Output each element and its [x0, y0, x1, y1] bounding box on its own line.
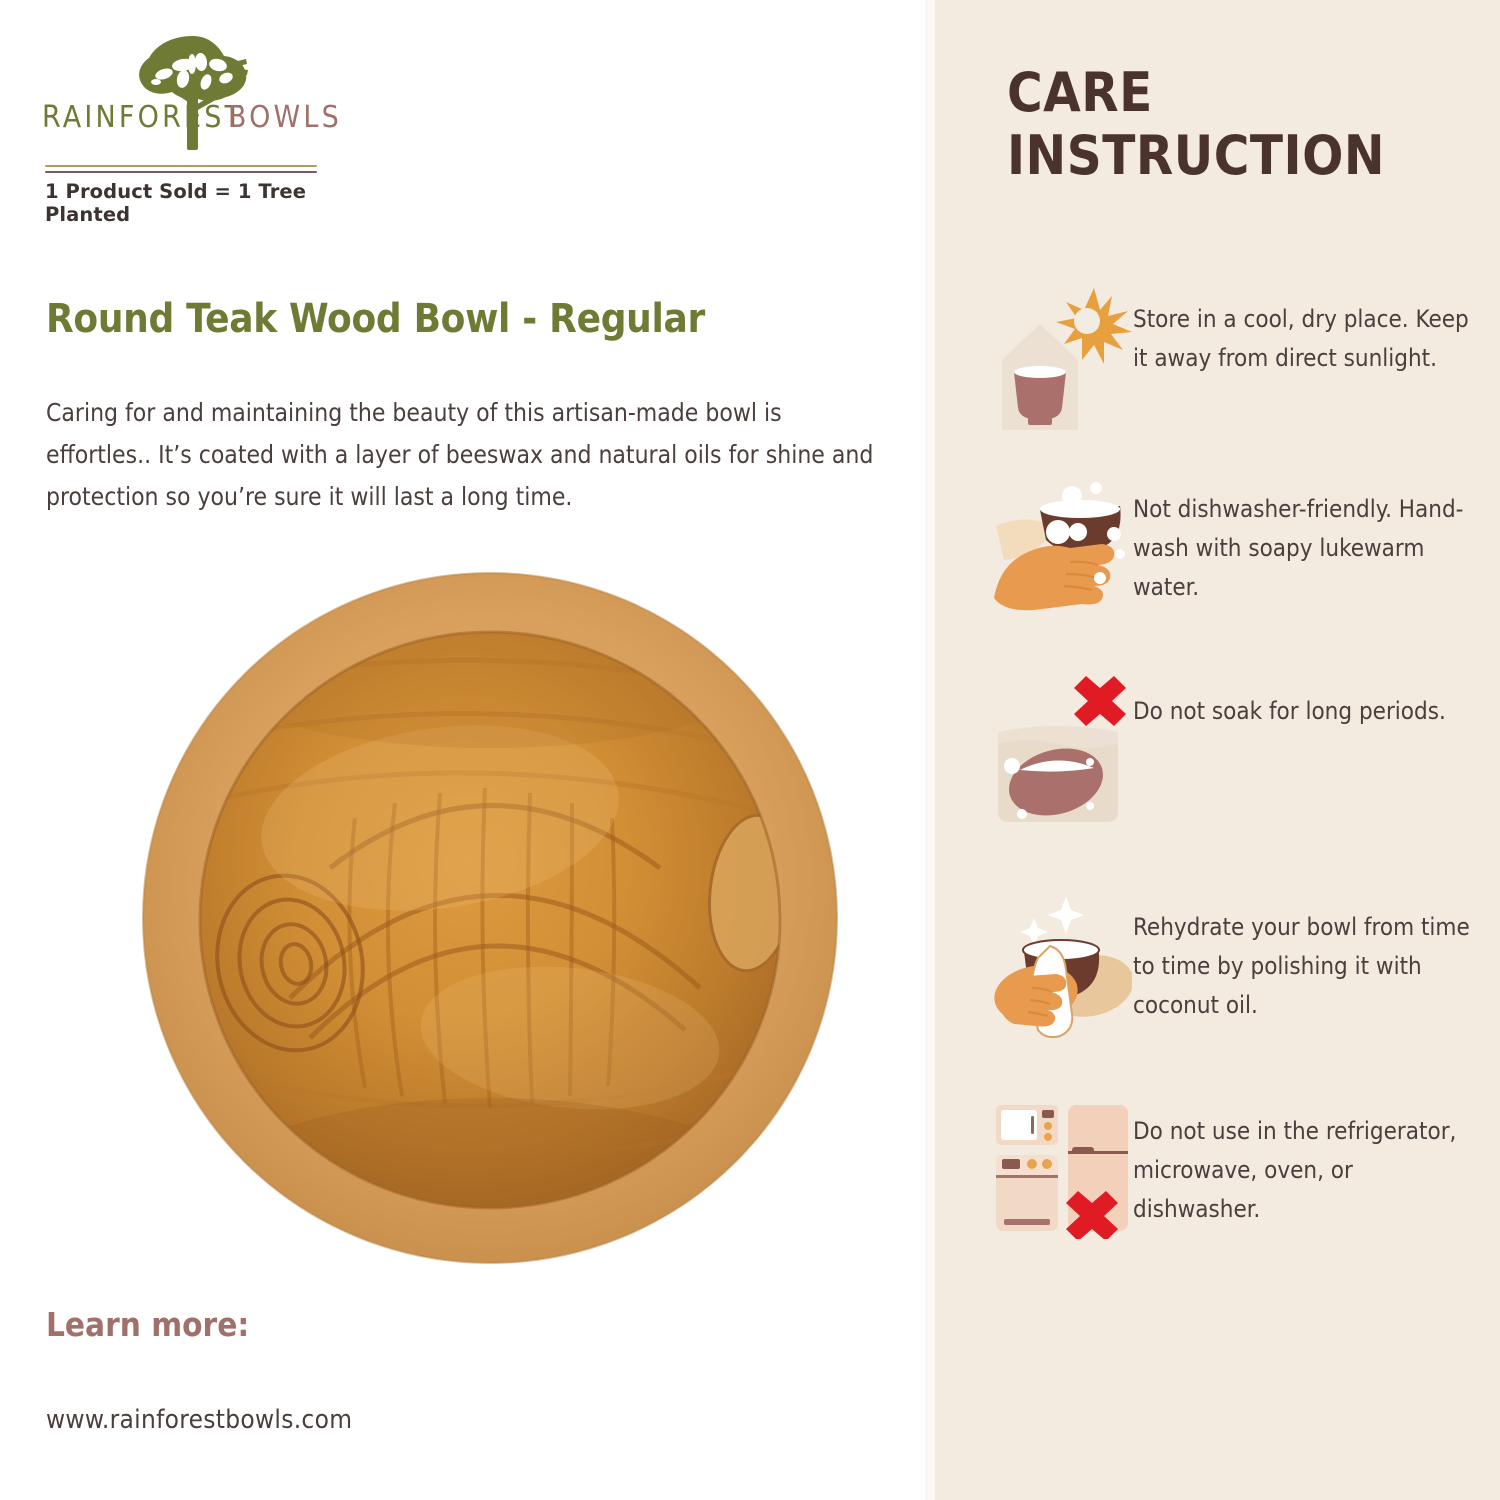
brand-wordmark: RAINFOREST BOWLS: [42, 100, 342, 144]
care-item-hand-wash: Not dishwasher-friendly. Hand-wash with …: [935, 472, 1500, 622]
care-item-text: Do not use in the refrigerator, microwav…: [1133, 1094, 1500, 1229]
bowl-rim: [1040, 500, 1120, 518]
bowl-body: [1014, 372, 1066, 420]
care-item-text: Rehydrate your bowl from time to time by…: [1133, 890, 1500, 1025]
care-item-do-not-soak: Do not soak for long periods.: [935, 674, 1500, 824]
microwave-handle: [1031, 1116, 1034, 1134]
hand-washing-bowl-icon: [993, 472, 1133, 622]
dishwasher-handle: [1004, 1219, 1050, 1225]
care-item-text: Not dishwasher-friendly. Hand-wash with …: [1133, 472, 1500, 607]
brand-logo: RAINFOREST BOWLS 1 Product Sold = 1 Tree…: [42, 32, 342, 150]
microwave-knob: [1044, 1122, 1052, 1130]
care-item-no-appliances: Do not use in the refrigerator, microwav…: [935, 1094, 1500, 1244]
sun-inner-cut: [1074, 308, 1100, 334]
logo-rule-brown: [45, 171, 317, 173]
care-instruction-infographic: RAINFOREST BOWLS 1 Product Sold = 1 Tree…: [0, 0, 1500, 1500]
left-panel: RAINFOREST BOWLS 1 Product Sold = 1 Tree…: [0, 0, 925, 1500]
dishwasher-seam: [996, 1175, 1058, 1178]
product-description: Caring for and maintaining the beauty of…: [46, 392, 886, 518]
care-item-text: Do not soak for long periods.: [1133, 674, 1500, 731]
care-heading: CAREINSTRUCTION: [1007, 62, 1477, 187]
red-x-icon: [1074, 676, 1126, 726]
dishwasher-knob: [1042, 1159, 1052, 1169]
care-items-list: Store in a cool, dry place. Keep it away…: [935, 282, 1500, 1262]
care-item-rehydrate-coconut-oil: Rehydrate your bowl from time to time by…: [935, 890, 1500, 1040]
care-item-text: Store in a cool, dry place. Keep it away…: [1133, 282, 1500, 378]
brand-tagline: 1 Product Sold = 1 Tree Planted: [45, 180, 342, 226]
product-photo: [140, 568, 840, 1268]
microwave-dishwasher-refrigerator-icon: [993, 1094, 1133, 1244]
page-title: Round Teak Wood Bowl - Regular: [46, 296, 896, 342]
bowl-soaking-in-water-icon: [993, 674, 1133, 824]
care-heading-line1: CARE: [1007, 61, 1153, 124]
hand-polishing-bowl-with-cloth-icon: [993, 890, 1133, 1040]
bowl-foot: [1028, 418, 1052, 425]
care-item-store-cool-dry: Store in a cool, dry place. Keep it away…: [935, 282, 1500, 432]
refrigerator-handle: [1072, 1147, 1094, 1154]
microwave-display: [1042, 1110, 1054, 1118]
wordmark-rainforest: RAINFOREST: [42, 100, 244, 135]
dishwasher-display: [1002, 1159, 1020, 1169]
teak-bowl-illustration: [140, 568, 840, 1268]
logo-rule-gold: [45, 165, 317, 167]
sparkle-icons: [1020, 896, 1084, 946]
house-with-bowl-and-sun-icon: [993, 282, 1133, 432]
microwave-knob: [1044, 1133, 1052, 1141]
panel-divider: [925, 0, 935, 1500]
wordmark-bowls: BOWLS: [228, 100, 342, 135]
learn-more-label: Learn more:: [46, 1305, 249, 1344]
website-url[interactable]: www.rainforestbowls.com: [46, 1405, 352, 1435]
care-heading-line2: INSTRUCTION: [1007, 124, 1385, 187]
care-instruction-panel: CAREINSTRUCTION: [935, 0, 1500, 1500]
logo-mark: RAINFOREST BOWLS: [42, 32, 342, 150]
dishwasher-knob: [1027, 1159, 1037, 1169]
bowl-rim: [1014, 366, 1066, 378]
